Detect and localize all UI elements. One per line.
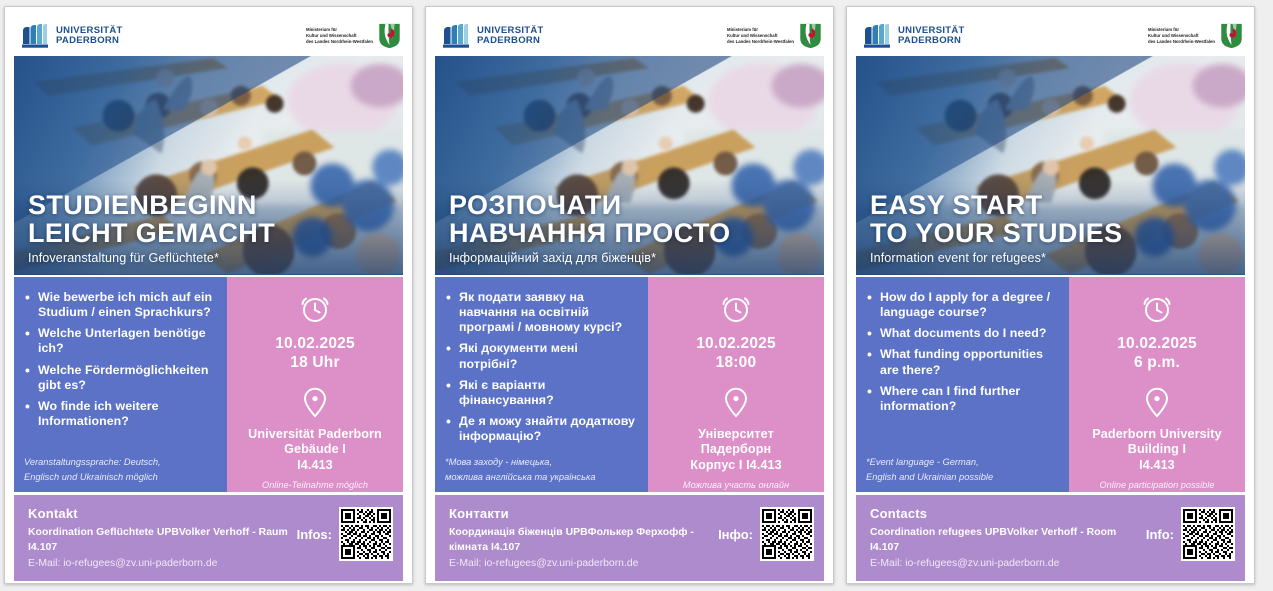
event-language-note: *Мова заходу - німецька,можлива англійсь… bbox=[445, 455, 636, 484]
ministry-logo: Ministerium für Kultur und Wissenschaft … bbox=[1148, 23, 1243, 49]
questions-list: Як подати заявку на навчання на освітній… bbox=[445, 290, 636, 450]
contact-line: Koordination Geflüchtete UPB bbox=[28, 527, 179, 538]
event-date: 10.02.2025 bbox=[275, 335, 355, 354]
map-pin-icon bbox=[1143, 386, 1171, 423]
poster-middle: Wie bewerbe ich mich auf ein Studium / e… bbox=[14, 277, 403, 492]
contact-footer: Kontakt Koordination Geflüchtete UPBVolk… bbox=[14, 495, 403, 581]
questions-panel: How do I apply for a degree / language c… bbox=[856, 277, 1069, 492]
contact-block: Контакти Координація біженців UPBФолькер… bbox=[449, 506, 718, 571]
qr-block: Infos: bbox=[297, 506, 393, 561]
nrw-coat-of-arms-icon bbox=[1220, 23, 1243, 49]
questions-panel: Wie bewerbe ich mich auf ein Studium / e… bbox=[14, 277, 227, 492]
qr-code-icon[interactable] bbox=[339, 507, 393, 561]
alarm-clock-icon bbox=[298, 291, 332, 330]
poster-de: UNIVERSITÄT PADERBORN Ministerium für Ku… bbox=[4, 6, 413, 584]
event-info-panel: 10.02.202518:00 УніверситетПадерборнКорп… bbox=[648, 277, 824, 492]
university-wordmark: UNIVERSITÄT PADERBORN bbox=[898, 26, 965, 46]
contact-title: Kontakt bbox=[28, 506, 297, 521]
qr-label: Info: bbox=[1146, 527, 1174, 542]
event-datetime: 10.02.202518:00 bbox=[696, 335, 776, 373]
nrw-coat-of-arms-icon bbox=[378, 23, 401, 49]
event-venue: УніверситетПадерборнКорпус I I4.413 bbox=[690, 427, 781, 474]
contact-line: Coordination refugees UPB bbox=[870, 527, 1007, 538]
question-item: Де я можу знайти додаткову інформацію? bbox=[445, 414, 636, 444]
poster-en: UNIVERSITÄT PADERBORN Ministerium für Ku… bbox=[846, 6, 1255, 584]
poster-middle: Як подати заявку на навчання на освітній… bbox=[435, 277, 824, 492]
event-venue: Universität PaderbornGebäude II4.413 bbox=[248, 427, 382, 474]
venue-line: Universität Paderborn bbox=[248, 427, 382, 443]
poster-subtitle: Information event for refugees* bbox=[870, 251, 1231, 265]
hero-image: STUDIENBEGINNLEICHT GEMACHT Infoveransta… bbox=[14, 56, 403, 275]
venue-line: Падерборн bbox=[690, 442, 781, 458]
poster-title-line: TO YOUR STUDIES bbox=[870, 220, 1231, 248]
poster-subtitle: Infoveranstaltung für Geflüchtete* bbox=[28, 251, 389, 265]
venue-line: Paderborn University bbox=[1092, 427, 1221, 443]
questions-panel: Як подати заявку на навчання на освітній… bbox=[435, 277, 648, 492]
ministry-logo: Ministerium für Kultur und Wissenschaft … bbox=[727, 23, 822, 49]
contact-lines: Координація біженців UPBФолькер Ферхофф … bbox=[449, 526, 718, 556]
question-item: What documents do I need? bbox=[866, 326, 1057, 341]
question-item: What funding opportunities are there? bbox=[866, 347, 1057, 377]
upb-fan-icon bbox=[862, 23, 892, 50]
poster-set: UNIVERSITÄT PADERBORN Ministerium für Ku… bbox=[0, 0, 1273, 591]
question-item: Як подати заявку на навчання на освітній… bbox=[445, 290, 636, 335]
alarm-clock-icon bbox=[1140, 291, 1174, 330]
ministry-line-3: des Landes Nordrhein-Westfalen bbox=[727, 39, 794, 45]
contact-email[interactable]: E-Mail: io-refugees@zv.uni-paderborn.de bbox=[870, 557, 1146, 572]
university-logo: UNIVERSITÄT PADERBORN bbox=[862, 23, 965, 50]
qr-code-icon[interactable] bbox=[1181, 507, 1235, 561]
venue-line: I4.413 bbox=[1092, 458, 1221, 474]
language-note-line: Veranstaltungssprache: Deutsch, bbox=[24, 455, 215, 469]
poster-title: STUDIENBEGINNLEICHT GEMACHT bbox=[28, 192, 389, 248]
nrw-coat-of-arms-icon bbox=[799, 23, 822, 49]
event-language-note: *Event language - German,English and Ukr… bbox=[866, 455, 1057, 484]
poster-title-line: EASY START bbox=[870, 192, 1231, 220]
map-pin-icon bbox=[301, 386, 329, 423]
logo-line-2: PADERBORN bbox=[898, 36, 965, 46]
venue-line: Університет bbox=[690, 427, 781, 443]
questions-list: How do I apply for a degree / language c… bbox=[866, 290, 1057, 420]
contact-email[interactable]: E-Mail: io-refugees@zv.uni-paderborn.de bbox=[28, 557, 297, 572]
poster-middle: How do I apply for a degree / language c… bbox=[856, 277, 1245, 492]
university-logo: UNIVERSITÄT PADERBORN bbox=[20, 23, 123, 50]
hero-text-block: EASY STARTTO YOUR STUDIES Information ev… bbox=[870, 192, 1231, 265]
poster-title-line: STUDIENBEGINN bbox=[28, 192, 389, 220]
ministry-text: Ministerium für Kultur und Wissenschaft … bbox=[306, 27, 373, 46]
question-item: Welche Unterlagen benötige ich? bbox=[24, 326, 215, 356]
qr-label: Інфо: bbox=[718, 527, 753, 542]
contact-email[interactable]: E-Mail: io-refugees@zv.uni-paderborn.de bbox=[449, 557, 718, 572]
poster-title: EASY STARTTO YOUR STUDIES bbox=[870, 192, 1231, 248]
question-item: Які є варіанти фінансування? bbox=[445, 378, 636, 408]
university-logo: UNIVERSITÄT PADERBORN bbox=[441, 23, 544, 50]
venue-line: Gebäude I bbox=[248, 442, 382, 458]
ministry-text: Ministerium für Kultur und Wissenschaft … bbox=[727, 27, 794, 46]
university-wordmark: UNIVERSITÄT PADERBORN bbox=[477, 26, 544, 46]
contact-block: Kontakt Koordination Geflüchtete UPBVolk… bbox=[28, 506, 297, 571]
qr-block: Info: bbox=[1146, 506, 1235, 561]
contact-line: Координація біженців UPB bbox=[449, 527, 588, 538]
alarm-clock-icon bbox=[719, 291, 753, 330]
venue-line: Корпус I I4.413 bbox=[690, 458, 781, 474]
logo-line-2: PADERBORN bbox=[477, 36, 544, 46]
question-item: Where can I find further information? bbox=[866, 384, 1057, 414]
question-item: Wie bewerbe ich mich auf ein Studium / e… bbox=[24, 290, 215, 320]
event-time: 18 Uhr bbox=[275, 354, 355, 373]
question-item: Які документи мені потрібні? bbox=[445, 341, 636, 371]
event-language-note: Veranstaltungssprache: Deutsch,Englisch … bbox=[24, 455, 215, 484]
language-note-line: можлива англійська та українська bbox=[445, 470, 636, 484]
contact-block: Contacts Coordination refugees UPBVolker… bbox=[870, 506, 1146, 571]
contact-lines: Koordination Geflüchtete UPBVolker Verho… bbox=[28, 526, 297, 556]
poster-header: UNIVERSITÄT PADERBORN Ministerium für Ku… bbox=[856, 16, 1245, 56]
online-note-line: Можлива участь онлайн bbox=[683, 479, 789, 492]
language-note-line: *Event language - German, bbox=[866, 455, 1057, 469]
venue-line: I4.413 bbox=[248, 458, 382, 474]
hero-text-block: РОЗПОЧАТИНАВЧАННЯ ПРОСТО Інформаційний з… bbox=[449, 192, 810, 265]
event-venue: Paderborn UniversityBuilding II4.413 bbox=[1092, 427, 1221, 474]
ministry-text: Ministerium für Kultur und Wissenschaft … bbox=[1148, 27, 1215, 46]
language-note-line: *Мова заходу - німецька, bbox=[445, 455, 636, 469]
logo-line-2: PADERBORN bbox=[56, 36, 123, 46]
hero-image: EASY STARTTO YOUR STUDIES Information ev… bbox=[856, 56, 1245, 275]
poster-title: РОЗПОЧАТИНАВЧАННЯ ПРОСТО bbox=[449, 192, 810, 248]
online-note-line: Online participation possible bbox=[1100, 479, 1215, 492]
event-date: 10.02.2025 bbox=[1117, 335, 1197, 354]
map-pin-icon bbox=[722, 386, 750, 423]
contact-footer: Контакти Координація біженців UPBФолькер… bbox=[435, 495, 824, 581]
event-time: 6 p.m. bbox=[1117, 354, 1197, 373]
poster-header: UNIVERSITÄT PADERBORN Ministerium für Ku… bbox=[435, 16, 824, 56]
poster-title-line: НАВЧАННЯ ПРОСТО bbox=[449, 220, 810, 248]
questions-list: Wie bewerbe ich mich auf ein Studium / e… bbox=[24, 290, 215, 435]
qr-block: Інфо: bbox=[718, 506, 814, 561]
online-note-line: Online-Teilnahme möglich bbox=[262, 479, 368, 492]
contact-title: Contacts bbox=[870, 506, 1146, 521]
upb-fan-icon bbox=[441, 23, 471, 50]
hero-image: РОЗПОЧАТИНАВЧАННЯ ПРОСТО Інформаційний з… bbox=[435, 56, 824, 275]
poster-title-line: LEICHT GEMACHT bbox=[28, 220, 389, 248]
ministry-line-3: des Landes Nordrhein-Westfalen bbox=[306, 39, 373, 45]
poster-subtitle: Інформаційний захід для біженців* bbox=[449, 251, 810, 265]
language-note-line: English and Ukrainian possible bbox=[866, 470, 1057, 484]
venue-line: Building I bbox=[1092, 442, 1221, 458]
contact-title: Контакти bbox=[449, 506, 718, 521]
ministry-logo: Ministerium für Kultur und Wissenschaft … bbox=[306, 23, 401, 49]
event-info-panel: 10.02.20256 p.m. Paderborn UniversityBui… bbox=[1069, 277, 1245, 492]
poster-title-line: РОЗПОЧАТИ bbox=[449, 192, 810, 220]
contact-lines: Coordination refugees UPBVolker Verhoff … bbox=[870, 526, 1146, 556]
event-info-panel: 10.02.202518 Uhr Universität PaderbornGe… bbox=[227, 277, 403, 492]
event-datetime: 10.02.20256 p.m. bbox=[1117, 335, 1197, 373]
question-item: Welche Fördermöglichkeiten gibt es? bbox=[24, 363, 215, 393]
hero-text-block: STUDIENBEGINNLEICHT GEMACHT Infoveransta… bbox=[28, 192, 389, 265]
ministry-line-3: des Landes Nordrhein-Westfalen bbox=[1148, 39, 1215, 45]
event-time: 18:00 bbox=[696, 354, 776, 373]
qr-code-icon[interactable] bbox=[760, 507, 814, 561]
question-item: How do I apply for a degree / language c… bbox=[866, 290, 1057, 320]
contact-footer: Contacts Coordination refugees UPBVolker… bbox=[856, 495, 1245, 581]
qr-label: Infos: bbox=[297, 527, 332, 542]
poster-header: UNIVERSITÄT PADERBORN Ministerium für Ku… bbox=[14, 16, 403, 56]
upb-fan-icon bbox=[20, 23, 50, 50]
event-datetime: 10.02.202518 Uhr bbox=[275, 335, 355, 373]
university-wordmark: UNIVERSITÄT PADERBORN bbox=[56, 26, 123, 46]
event-date: 10.02.2025 bbox=[696, 335, 776, 354]
poster-uk: UNIVERSITÄT PADERBORN Ministerium für Ku… bbox=[425, 6, 834, 584]
question-item: Wo finde ich weitere Informationen? bbox=[24, 399, 215, 429]
language-note-line: Englisch und Ukrainisch möglich bbox=[24, 470, 215, 484]
